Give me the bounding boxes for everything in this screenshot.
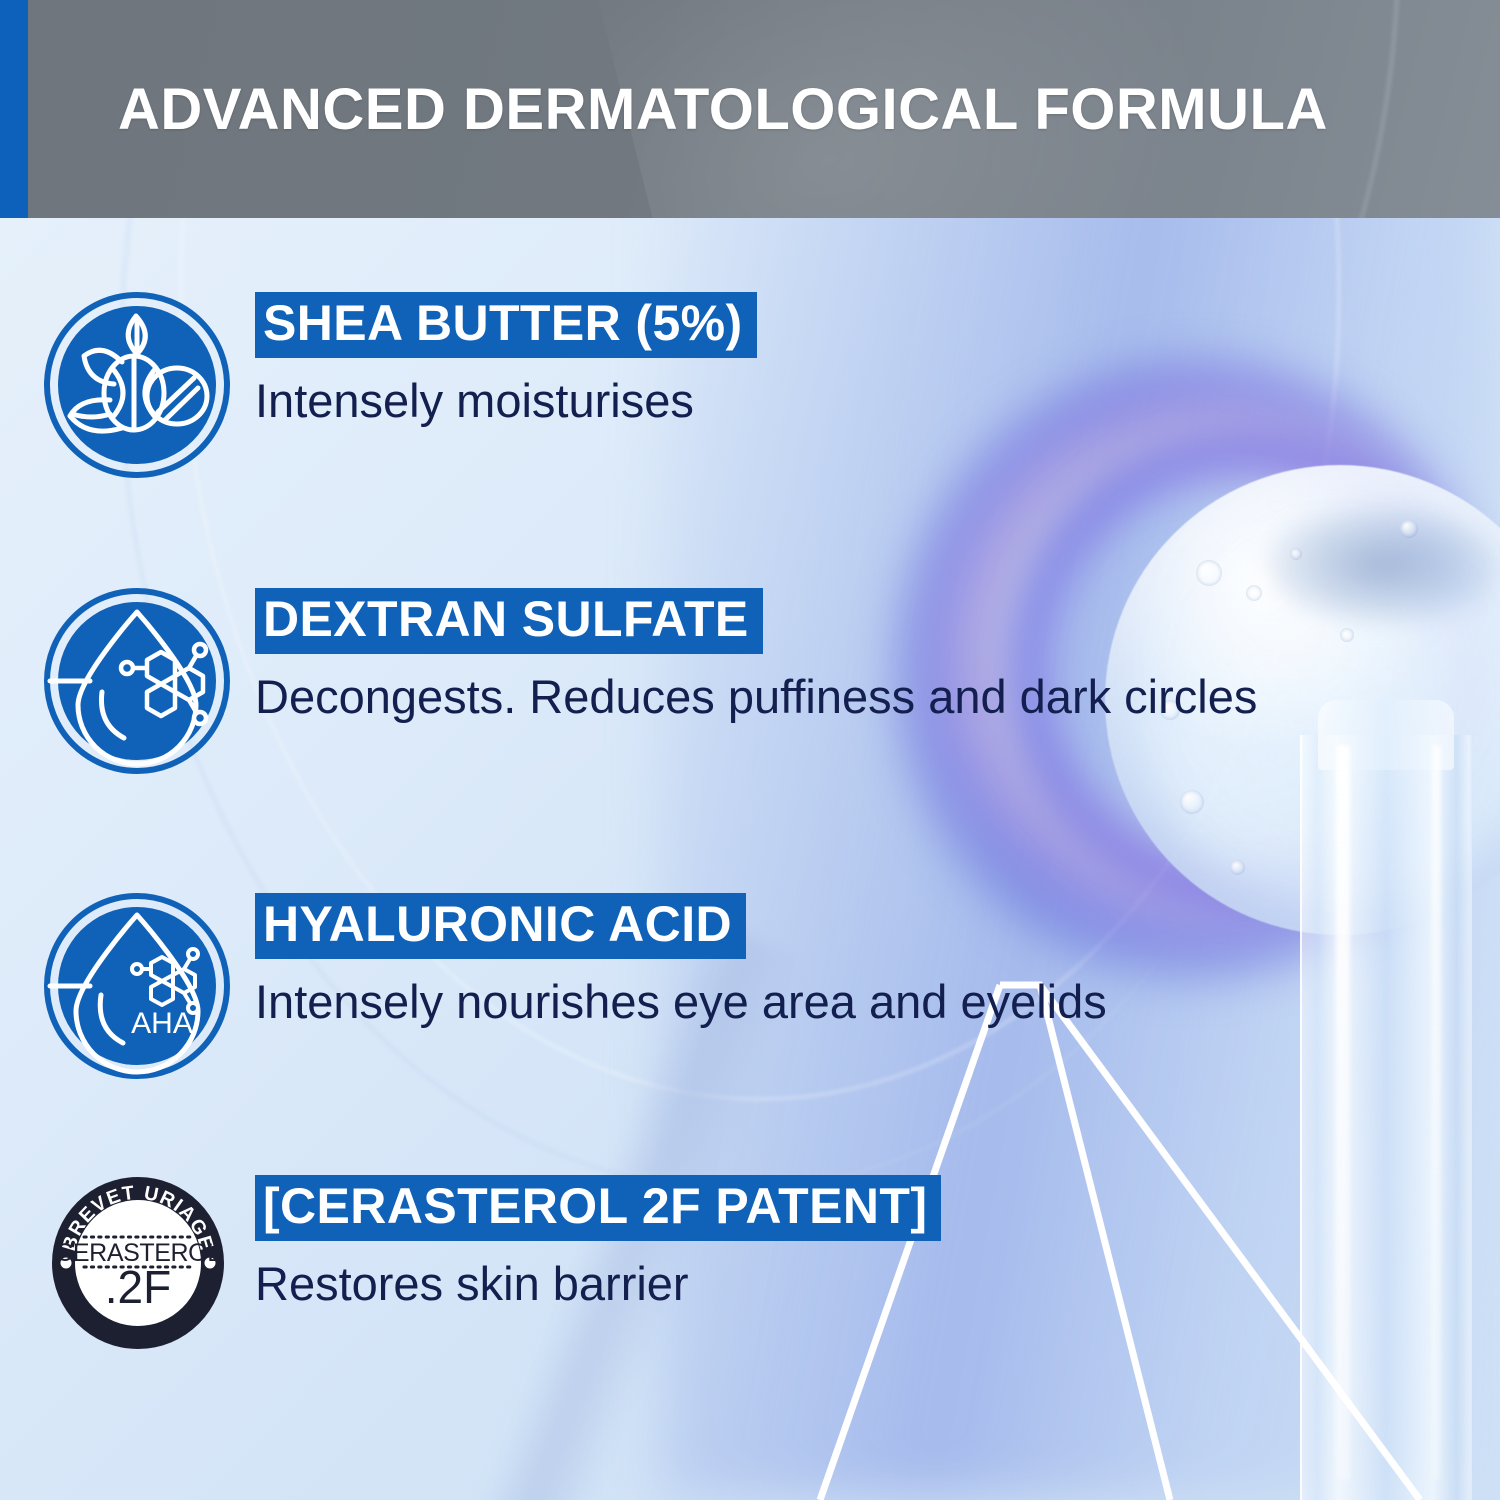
feature-text-shea-butter: SHEA BUTTER (5%) Intensely moisturises: [255, 292, 1455, 432]
aha-icon-label: AHA: [131, 1007, 193, 1040]
feature-title: HYALURONIC ACID: [255, 893, 746, 959]
cerasterol-patent-badge-icon: BREVET URIAGE URIAGE PATENT CERASTEROL .…: [50, 1175, 226, 1351]
feature-title: DEXTRAN SULFATE: [255, 588, 763, 654]
page-title: ADVANCED DERMATOLOGICAL FORMULA: [118, 0, 1328, 218]
header-banner: ADVANCED DERMATOLOGICAL FORMULA: [0, 0, 1500, 218]
droplet-aha-icon: AHA: [44, 893, 230, 1079]
badge-center-text-2: .2F: [105, 1261, 171, 1313]
feature-text-hyaluronic-acid: HYALURONIC ACID Intensely nourishes eye …: [255, 893, 1455, 1033]
feature-description: Intensely moisturises: [255, 370, 1435, 432]
feature-description: Restores skin barrier: [255, 1253, 1435, 1315]
feature-title: SHEA BUTTER (5%): [255, 292, 757, 358]
feature-title: [CERASTEROL 2F PATENT]: [255, 1175, 941, 1241]
droplet-molecule-icon: [44, 588, 230, 774]
shea-nut-icon: [44, 292, 230, 478]
feature-text-cerasterol-patent: [CERASTEROL 2F PATENT] Restores skin bar…: [255, 1175, 1455, 1315]
infographic-canvas: ADVANCED DERMATOLOGICAL FORMULA: [0, 0, 1500, 1500]
feature-text-dextran-sulfate: DEXTRAN SULFATE Decongests. Reduces puff…: [255, 588, 1455, 728]
feature-description: Intensely nourishes eye area and eyelids: [255, 971, 1435, 1033]
header-accent-bar: [0, 0, 28, 218]
feature-description: Decongests. Reduces puffiness and dark c…: [255, 666, 1435, 728]
